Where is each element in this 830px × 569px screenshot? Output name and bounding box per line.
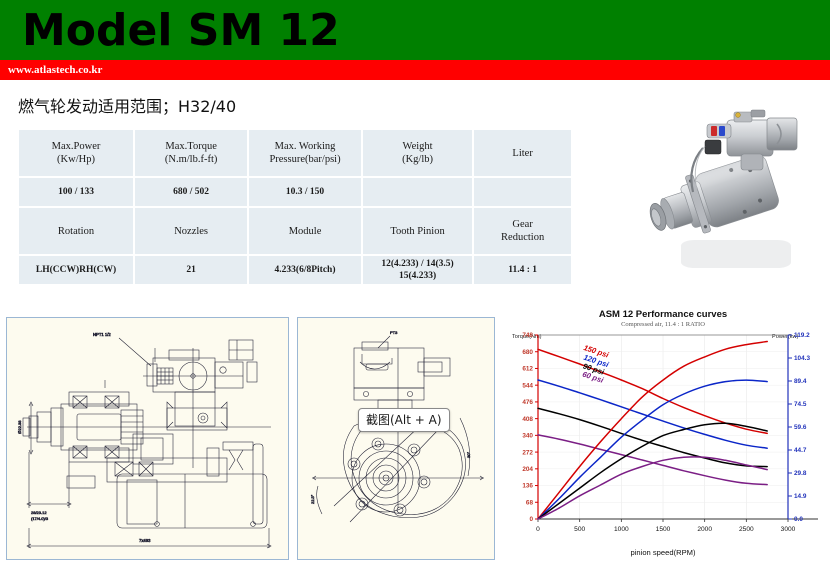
cross-section-drawing-panel: NPT1 1/2 xyxy=(6,317,289,560)
slide-page: Model SM 12 www.atlastech.co.kr 燃气轮发动适用范… xyxy=(0,0,830,569)
table-cell-value: LH(CCW)RH(CW) xyxy=(19,256,133,284)
y-tick-left: 204 xyxy=(522,466,533,473)
cell-line-1: 21 xyxy=(186,265,196,275)
table-cell-header: Max.Power (Kw/Hp) xyxy=(19,130,133,176)
page-title: Model SM 12 xyxy=(22,4,340,58)
y-tick-left: 680 xyxy=(522,349,533,356)
y-tick-left: 408 xyxy=(522,416,533,423)
drawing-angle-1: 30° xyxy=(466,452,471,458)
cell-line-1: Tooth Pinion xyxy=(390,226,444,237)
cell-line-2: (Kw/Hp) xyxy=(57,154,95,165)
y-tick-left: 68 xyxy=(526,499,534,506)
table-cell-value: 680 / 502 xyxy=(135,178,247,206)
table-row: Max.Power (Kw/Hp) Max.Torque (N.m/lb.f-f… xyxy=(19,130,571,176)
cell-line-1: Nozzles xyxy=(174,226,208,237)
table-cell-header: Rotation xyxy=(19,208,133,254)
starter-motor-illustration xyxy=(641,96,827,292)
table-row: Rotation Nozzles Module Tooth Pinion Gea… xyxy=(19,208,571,254)
website-url: www.atlastech.co.kr xyxy=(8,61,102,80)
cell-line-1: Module xyxy=(289,226,322,237)
x-tick: 0 xyxy=(536,526,540,533)
table-cell-header: Nozzles xyxy=(135,208,247,254)
x-tick: 2000 xyxy=(697,526,712,533)
cell-line-1: 11.4 : 1 xyxy=(508,265,537,275)
cell-line-1: Gear xyxy=(512,219,532,230)
performance-chart-svg: ASM 12 Performance curves Compressed air… xyxy=(500,305,826,563)
y-tick-left: 272 xyxy=(522,449,533,456)
x-axis-label: pinion speed(RPM) xyxy=(631,548,696,557)
y-tick-right: 104.3 xyxy=(794,355,810,362)
table-cell-value: 12(4.233) / 14(3.5) 15(4.233) xyxy=(363,256,472,284)
drawing-dim-diameter: ∅22.38 xyxy=(17,420,22,434)
cell-line-1: LH(CCW)RH(CW) xyxy=(36,265,116,275)
y-tick-right: 44.7 xyxy=(794,447,807,454)
cell-line-1: Liter xyxy=(512,148,532,159)
x-tick: 1500 xyxy=(656,526,671,533)
x-tick: 1000 xyxy=(614,526,629,533)
screenshot-shortcut-tooltip: 截图(Alt + A) xyxy=(358,408,450,432)
cell-line-1: 4.233(6/8Pitch) xyxy=(275,265,336,275)
cell-line-2: (N.m/lb.f-ft) xyxy=(165,154,218,165)
x-tick: 2500 xyxy=(739,526,754,533)
sm12-cross-section-drawing: NPT1 1/2 xyxy=(7,318,288,559)
performance-chart: ASM 12 Performance curves Compressed air… xyxy=(500,305,826,563)
y-tick-right: 119.2 xyxy=(794,332,810,339)
y-tick-left: 476 xyxy=(522,399,533,406)
cell-line-2: (Kg/lb) xyxy=(402,154,433,165)
y-tick-left: 544 xyxy=(522,382,533,389)
header-red-band xyxy=(0,60,830,80)
table-cell-value xyxy=(474,178,571,206)
y-tick-left: 612 xyxy=(522,366,533,373)
table-row: LH(CCW)RH(CW) 21 4.233(6/8Pitch) 12(4.23… xyxy=(19,256,571,284)
chart-subtitle: Compressed air, 11.4 : 1 RATIO xyxy=(621,321,705,328)
table-cell-header: Max.Torque (N.m/lb.f-ft) xyxy=(135,130,247,176)
sm12-mounting-flange-drawing: PT3 xyxy=(298,318,494,559)
drawing-callout-label: NPT1 1/2 xyxy=(93,332,111,337)
application-range-subtitle: 燃气轮发动适用范围；H32/40 xyxy=(18,93,236,117)
chart-title: ASM 12 Performance curves xyxy=(599,309,727,320)
table-cell-header: Gear Reduction xyxy=(474,208,571,254)
table-cell-header: Module xyxy=(249,208,361,254)
table-cell-header: Liter xyxy=(474,130,571,176)
table-cell-value: 11.4 : 1 xyxy=(474,256,571,284)
table-cell-header: Tooth Pinion xyxy=(363,208,472,254)
product-photo xyxy=(641,96,827,292)
cell-line-1: Weight xyxy=(403,141,433,152)
table-cell-value xyxy=(363,178,472,206)
drawing-callout-label: PT3 xyxy=(390,330,398,335)
table-cell-header: Max. Working Pressure(bar/psi) xyxy=(249,130,361,176)
y-tick-left: 0 xyxy=(529,516,533,523)
x-tick: 3000 xyxy=(781,526,796,533)
cell-line-2: Reduction xyxy=(501,232,544,243)
y-tick-left: 340 xyxy=(522,433,533,440)
mounting-flange-drawing-panel: PT3 xyxy=(297,317,495,560)
y-tick-right: 29.8 xyxy=(794,470,807,477)
drawing-dim-small-1: 28/23.12 xyxy=(31,510,47,515)
x-tick: 500 xyxy=(574,526,585,533)
cell-line-1: 12(4.233) / 14(3.5) xyxy=(381,259,453,269)
table-cell-value: 10.3 / 150 xyxy=(249,178,361,206)
table-cell-value: 100 / 133 xyxy=(19,178,133,206)
cell-line-1: Max. Working xyxy=(275,141,336,152)
cell-line-1: Max.Torque xyxy=(165,141,216,152)
y-tick-right: 89.4 xyxy=(794,378,807,385)
y-tick-left: 136 xyxy=(522,483,533,490)
cell-line-1: Rotation xyxy=(58,226,94,237)
y-tick-right: 74.5 xyxy=(794,401,807,408)
y-tick-right: 0.0 xyxy=(794,516,803,523)
table-cell-value: 4.233(6/8Pitch) xyxy=(249,256,361,284)
cell-line-1: Max.Power xyxy=(52,141,101,152)
y-tick-right: 59.6 xyxy=(794,424,807,431)
drawing-dim-overall: 7x493 xyxy=(139,538,151,543)
table-cell-value: 21 xyxy=(135,256,247,284)
specifications-table: Max.Power (Kw/Hp) Max.Torque (N.m/lb.f-f… xyxy=(17,128,573,286)
cell-line-2: 15(4.233) xyxy=(399,271,436,281)
cell-line-2: Pressure(bar/psi) xyxy=(269,154,340,165)
drawing-angle-2: 22.5° xyxy=(310,494,315,504)
drawing-dim-small-2: (17/4.0)/3 xyxy=(31,516,49,521)
table-cell-header: Weight (Kg/lb) xyxy=(363,130,472,176)
y-tick-right: 14.9 xyxy=(794,493,807,500)
table-row: 100 / 133 680 / 502 10.3 / 150 xyxy=(19,178,571,206)
y-tick-left: 748 xyxy=(522,332,533,339)
